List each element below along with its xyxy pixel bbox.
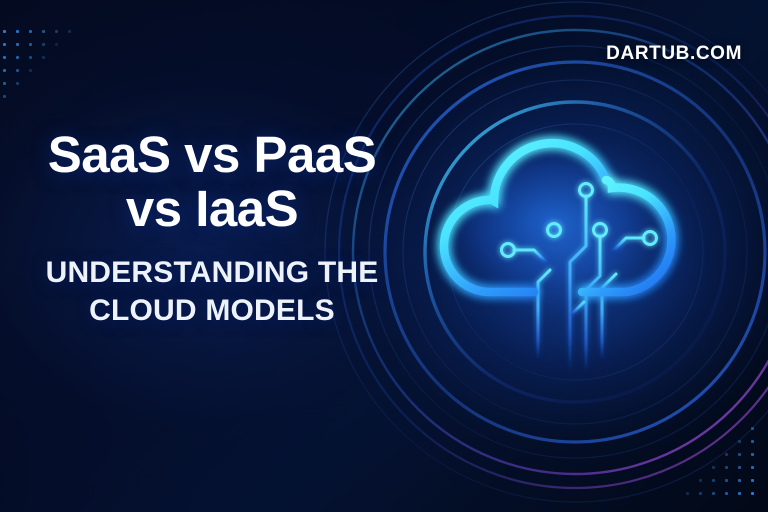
grid-dot (725, 453, 728, 456)
title-line-2: vs IaaS (126, 180, 298, 237)
grid-dot (16, 30, 19, 33)
brand-watermark: DARTUB.COM (606, 43, 742, 65)
grid-dot (3, 56, 6, 59)
subtitle-line-1: UNDERSTANDING THE (46, 256, 379, 289)
grid-dot (751, 492, 754, 495)
grid-dot (42, 30, 45, 33)
grid-dot (699, 479, 702, 482)
grid-dot (29, 69, 32, 72)
subtitle-line-2: CLOUD MODELS (89, 294, 335, 327)
grid-dot (751, 466, 754, 469)
grid-dot (751, 440, 754, 443)
dot-grid-top-left (3, 30, 93, 120)
grid-dot (751, 479, 754, 482)
page-subtitle: UNDERSTANDING THE CLOUD MODELS (0, 254, 424, 330)
grid-dot (29, 43, 32, 46)
dot-grid-bottom-right (686, 427, 766, 507)
grid-dot (3, 30, 6, 33)
grid-dot (738, 466, 741, 469)
grid-dot (3, 43, 6, 46)
grid-dot (712, 466, 715, 469)
promo-banner: DARTUB.COM SaaS vs PaaS vs IaaS UNDERSTA… (0, 0, 768, 512)
grid-dot (16, 82, 19, 85)
grid-dot (738, 492, 741, 495)
grid-dot (738, 479, 741, 482)
grid-dot (68, 30, 71, 33)
grid-dot (738, 453, 741, 456)
grid-dot (16, 56, 19, 59)
grid-dot (751, 453, 754, 456)
grid-dot (699, 492, 702, 495)
grid-dot (3, 95, 6, 98)
grid-dot (712, 479, 715, 482)
grid-dot (29, 56, 32, 59)
grid-dot (3, 69, 6, 72)
cloud-circuit-icon (430, 110, 730, 370)
grid-dot (42, 56, 45, 59)
grid-dot (16, 69, 19, 72)
grid-dot (55, 30, 58, 33)
grid-dot (29, 30, 32, 33)
grid-dot (686, 492, 689, 495)
grid-dot (42, 43, 45, 46)
grid-dot (712, 492, 715, 495)
grid-dot (55, 43, 58, 46)
grid-dot (751, 427, 754, 430)
page-title: SaaS vs PaaS vs IaaS (0, 128, 424, 236)
headline-block: SaaS vs PaaS vs IaaS UNDERSTANDING THE C… (0, 128, 424, 330)
grid-dot (16, 43, 19, 46)
grid-dot (738, 440, 741, 443)
grid-dot (725, 492, 728, 495)
grid-dot (725, 479, 728, 482)
grid-dot (3, 82, 6, 85)
title-line-1: SaaS vs PaaS (48, 126, 377, 183)
grid-dot (725, 466, 728, 469)
